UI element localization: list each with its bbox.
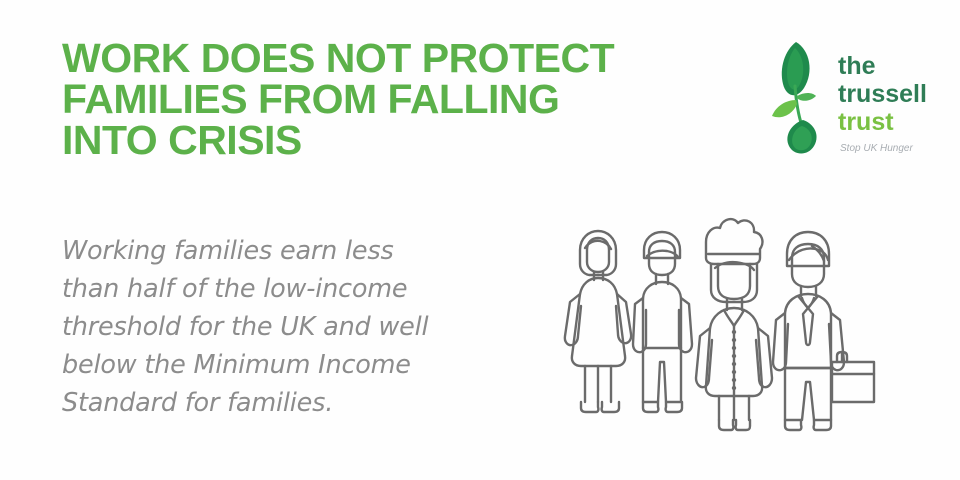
- page-title: WORK DOES NOT PROTECT FAMILIES FROM FALL…: [62, 38, 682, 161]
- chef-hat-icon: [706, 219, 762, 264]
- headline-line-1: WORK DOES NOT PROTECT: [62, 38, 682, 79]
- logo-tagline: Stop UK Hunger: [840, 143, 913, 154]
- body-paragraph: Working families earn less than half of …: [62, 232, 512, 422]
- chef-figure: [696, 219, 772, 430]
- body-line-2: than half of the low-income: [62, 270, 512, 308]
- necktie-icon: [803, 308, 813, 345]
- body-line-3: threshold for the UK and well: [62, 308, 512, 346]
- working-family-illustration: [556, 206, 886, 442]
- headline-line-2: FAMILIES FROM FALLING: [62, 79, 682, 120]
- boy-figure: [633, 232, 692, 412]
- logo-word-trust: trust: [838, 108, 894, 136]
- trussell-trust-logo: the trussell trust Stop UK Hunger: [766, 34, 936, 166]
- body-line-1: Working families earn less: [62, 232, 512, 270]
- girl-figure: [565, 231, 631, 412]
- sprout-plant-icon: [772, 42, 817, 154]
- briefcase-icon: [832, 352, 874, 402]
- poster-canvas: WORK DOES NOT PROTECT FAMILIES FROM FALL…: [0, 0, 960, 480]
- logo-word-the: the: [838, 52, 876, 80]
- headline-line-3: INTO CRISIS: [62, 120, 682, 161]
- logo-wordmark: the trussell trust Stop UK Hunger: [838, 52, 927, 154]
- businessman-figure: [773, 232, 874, 430]
- logo-word-trussell: trussell: [838, 80, 927, 108]
- body-line-5: Standard for families.: [62, 384, 512, 422]
- body-line-4: below the Minimum Income: [62, 346, 512, 384]
